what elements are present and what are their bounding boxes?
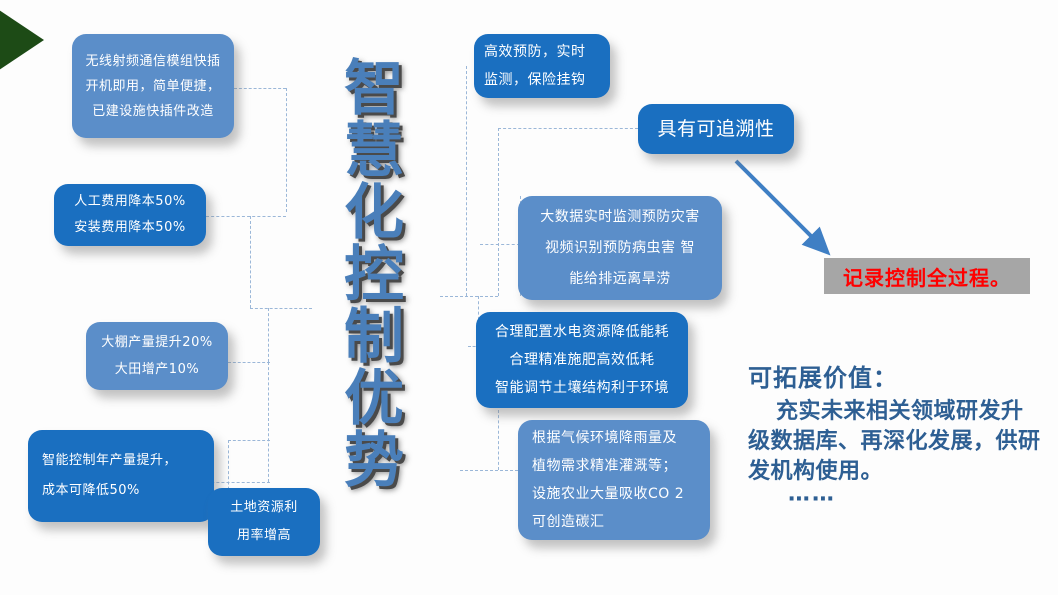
box-rf-module[interactable]: 无线射频通信模组快插 开机即用，简单便捷， 已建设施快插件改造 — [72, 34, 234, 138]
title-char: 优 — [344, 368, 404, 430]
diagonal-arrow-icon — [730, 155, 840, 265]
box-big-data-monitoring[interactable]: 大数据实时监测预防灾害 视频识别预防病虫害 智 能给排远离旱涝 — [518, 196, 722, 300]
connector-left-3-v — [268, 308, 269, 362]
connector-right-2-h — [498, 128, 638, 129]
box-smart-control-output[interactable]: 智能控制年产量提升， 成本可降低50% — [28, 430, 214, 522]
value-block-line: 发机构使用。 — [748, 457, 1048, 487]
box-line: 开机即用，简单便捷， — [85, 74, 220, 99]
box-line: 用率增高 — [237, 522, 291, 550]
connector-left-1-v — [286, 88, 287, 212]
box-line: 智能调节土壤结构利于环境 — [495, 374, 669, 402]
title-char: 制 — [344, 306, 404, 368]
box-line: 大田增产10% — [115, 356, 199, 383]
record-banner-text: 记录控制全过程。 — [843, 262, 1011, 291]
title-char: 化 — [344, 182, 404, 244]
value-block: 可拓展价值： 充实未来相关领域研发升 级数据库、再深化发展，供研 发机构使用。 … — [748, 358, 1048, 512]
box-line: 合理配置水电资源降低能耗 — [495, 318, 669, 346]
box-prevention[interactable]: 高效预防，实时 监测，保险挂钩 — [474, 34, 610, 98]
slide-canvas: 无线射频通信模组快插 开机即用，简单便捷， 已建设施快插件改造 人工费用降本50… — [0, 0, 1058, 595]
value-block-title: 可拓展价值： — [748, 358, 1048, 393]
value-block-ellipsis: ⋯⋯ — [748, 487, 1048, 512]
title-char: 智 — [344, 58, 404, 120]
connector-left-2-h — [206, 216, 286, 217]
box-line: 成本可降低50% — [42, 476, 140, 506]
box-line: 能给排远离旱涝 — [569, 264, 671, 295]
connector-left-1-h — [234, 88, 286, 89]
box-climate-irrigation[interactable]: 根据气候环境降雨量及 植物需求精准灌溉等； 设施农业大量吸收CO 2 可创造碳汇 — [518, 420, 710, 540]
page-title: 智 慧 化 控 制 优 势 — [318, 58, 430, 492]
connector-left-mid-h — [250, 308, 312, 309]
connector-right-1-v — [466, 66, 467, 296]
status-badge-record: 记录控制全过程。 — [824, 258, 1030, 294]
box-line: 土地资源利 — [230, 494, 298, 522]
box-traceability[interactable]: 具有可追溯性 — [638, 104, 794, 154]
title-char: 势 — [344, 430, 404, 492]
box-line: 视频识别预防病虫害 智 — [545, 233, 695, 264]
box-line: 无线射频通信模组快插 — [85, 49, 220, 74]
connector-left-3-h — [228, 362, 270, 363]
title-char: 控 — [344, 244, 404, 306]
box-line: 大数据实时监测预防灾害 — [540, 202, 700, 233]
box-line: 根据气候环境降雨量及 — [532, 424, 677, 452]
connector-right-5-v — [498, 410, 499, 470]
connector-left-4-v — [268, 362, 269, 482]
box-line: 大棚产量提升20% — [101, 329, 212, 356]
box-line: 智能控制年产量提升， — [42, 446, 177, 476]
connector-right-trunk-h — [440, 296, 498, 297]
box-resource-allocation[interactable]: 合理配置水电资源降低能耗 合理精准施肥高效低耗 智能调节土壤结构利于环境 — [476, 312, 688, 408]
box-line: 安装费用降本50% — [74, 215, 185, 241]
box-line: 可创造碳汇 — [532, 508, 605, 536]
box-line: 高效预防，实时 — [484, 38, 586, 66]
box-yield-increase[interactable]: 大棚产量提升20% 大田增产10% — [86, 322, 228, 390]
box-line: 已建设施快插件改造 — [92, 99, 214, 124]
box-land-use[interactable]: 土地资源利 用率增高 — [208, 488, 320, 556]
value-block-line: 级数据库、再深化发展，供研 — [748, 427, 1048, 457]
box-line: 具有可追溯性 — [657, 116, 774, 142]
box-line: 植物需求精准灌溉等； — [532, 452, 677, 480]
box-line: 人工费用降本50% — [74, 189, 185, 215]
value-block-line: 充实未来相关领域研发升 — [748, 397, 1048, 427]
connector-left-trunk-v — [250, 216, 251, 308]
connector-right-3-h — [480, 244, 520, 245]
connector-right-2-v — [498, 128, 499, 296]
box-line: 合理精准施肥高效低耗 — [510, 346, 655, 374]
green-chevron-icon — [0, 8, 44, 72]
box-line: 监测，保险挂钩 — [484, 66, 586, 94]
connector-left-5-h — [228, 440, 270, 441]
connector-right-5-h — [460, 470, 518, 471]
box-line: 设施农业大量吸收CO 2 — [532, 480, 684, 508]
title-char: 慧 — [344, 120, 404, 182]
box-cost-reduction[interactable]: 人工费用降本50% 安装费用降本50% — [54, 184, 206, 246]
